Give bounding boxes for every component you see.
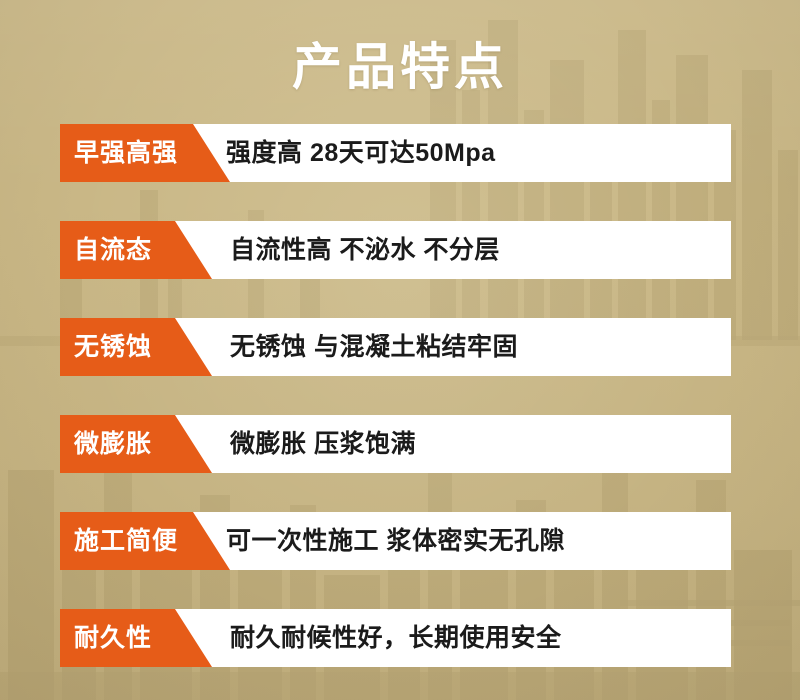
feature-description: 强度高 28天可达50Mpa (226, 124, 496, 182)
feature-row: 耐久性 耐久耐候性好，长期使用安全 (0, 609, 800, 667)
feature-tag-label: 早强高强 (74, 138, 178, 168)
feature-description: 微膨胀 压浆饱满 (230, 415, 416, 473)
feature-row: 微膨胀 微膨胀 压浆饱满 (0, 415, 800, 473)
feature-description: 自流性高 不泌水 不分层 (230, 221, 500, 279)
feature-row: 自流态 自流性高 不泌水 不分层 (0, 221, 800, 279)
feature-description: 耐久耐候性好，长期使用安全 (230, 609, 562, 667)
feature-row: 无锈蚀 无锈蚀 与混凝土粘结牢固 (0, 318, 800, 376)
feature-tag-label: 自流态 (74, 235, 152, 265)
product-features-poster: 产品特点 早强高强 强度高 28天可达50Mpa 自流态 自流性高 不泌水 不分… (0, 0, 800, 700)
feature-list: 早强高强 强度高 28天可达50Mpa 自流态 自流性高 不泌水 不分层 无锈蚀… (0, 124, 800, 667)
feature-tag-label: 耐久性 (74, 623, 152, 653)
feature-row: 施工简便 可一次性施工 浆体密实无孔隙 (0, 512, 800, 570)
page-title: 产品特点 (0, 36, 800, 98)
feature-tag-label: 无锈蚀 (74, 332, 152, 362)
feature-tag-label: 施工简便 (74, 526, 178, 556)
feature-row: 早强高强 强度高 28天可达50Mpa (0, 124, 800, 182)
feature-tag-label: 微膨胀 (74, 429, 152, 459)
feature-description: 无锈蚀 与混凝土粘结牢固 (230, 318, 518, 376)
feature-description: 可一次性施工 浆体密实无孔隙 (226, 512, 565, 570)
